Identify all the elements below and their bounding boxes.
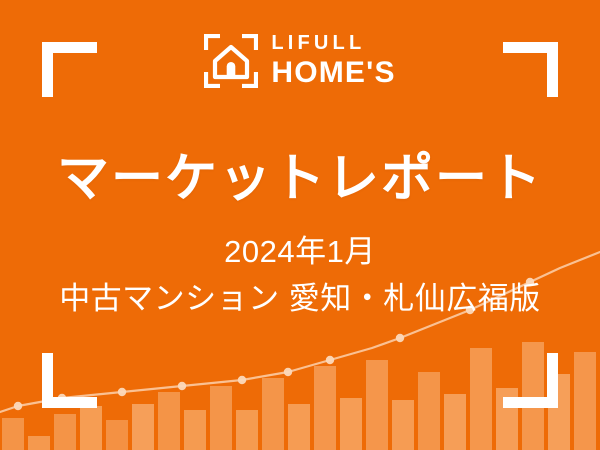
house-in-viewfinder-icon — [204, 34, 258, 88]
market-report-cover: LIFULL HOME'S マーケットレポート 2024年1月 中古マンション … — [0, 0, 600, 450]
report-edition: 中古マンション 愛知・札仙広福版 — [0, 282, 600, 316]
report-title: マーケットレポート — [0, 150, 600, 208]
logo-homes-text: HOME'S — [271, 58, 395, 88]
logo-lifull-text: LIFULL — [271, 33, 365, 53]
bracket-bottom-right-icon — [503, 353, 558, 408]
lifull-homes-logo: LIFULL HOME'S — [0, 33, 600, 88]
cover-headline-block: マーケットレポート 2024年1月 中古マンション 愛知・札仙広福版 — [0, 150, 600, 316]
bracket-bottom-left-icon — [42, 353, 97, 408]
logo-wordmark: LIFULL HOME'S — [271, 33, 395, 88]
report-period: 2024年1月 — [0, 235, 600, 269]
